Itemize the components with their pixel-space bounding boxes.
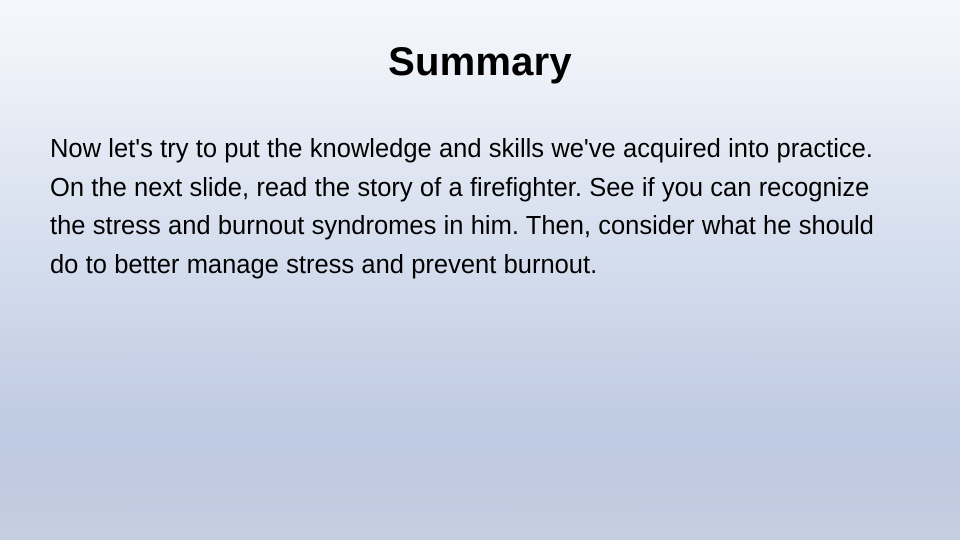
presentation-slide: Summary Now let's try to put the knowled… <box>0 0 960 540</box>
page-title: Summary <box>0 38 960 86</box>
slide-body-text: Now let's try to put the knowledge and s… <box>50 130 908 284</box>
